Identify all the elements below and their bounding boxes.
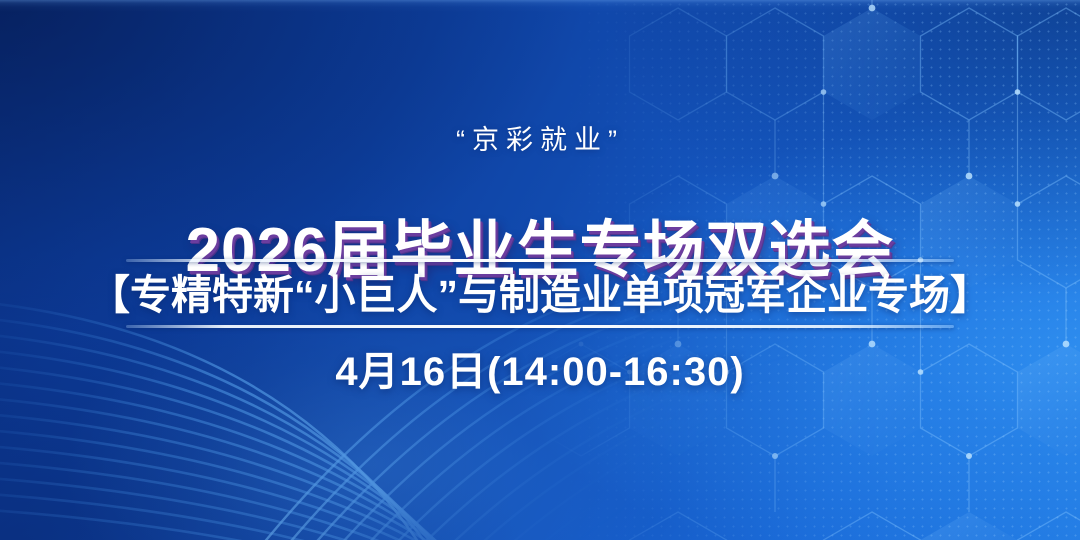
- divider-bottom: [126, 325, 954, 328]
- divider-top: [126, 259, 954, 262]
- banner-kicker: “京彩就业”: [0, 118, 1080, 157]
- event-banner: “京彩就业” 2026届毕业生专场双选会 【专精特新“小巨人”与制造业单项冠军企…: [0, 0, 1080, 540]
- banner-date-time: 4月16日(14:00-16:30): [0, 347, 1080, 397]
- banner-sub-title: 【专精特新“小巨人”与制造业单项冠军企业专场】: [0, 270, 1080, 320]
- banner-content: “京彩就业” 2026届毕业生专场双选会 【专精特新“小巨人”与制造业单项冠军企…: [0, 0, 1080, 540]
